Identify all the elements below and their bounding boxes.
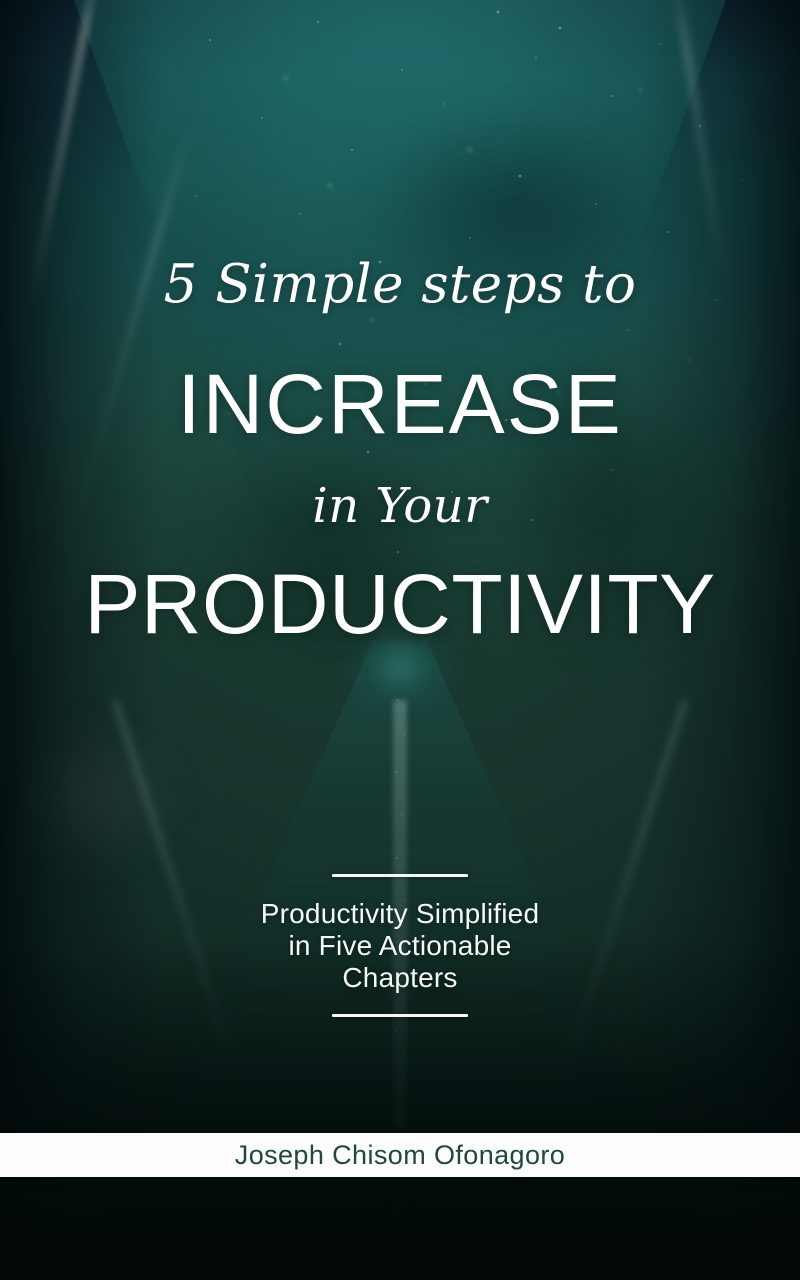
subtitle-line-2: in Five Actionable xyxy=(0,930,800,962)
author-band: Joseph Chisom Ofonagoro xyxy=(0,1133,800,1177)
cover-title-line-1: INCREASE xyxy=(0,362,800,446)
cover-text-content: 5 Simple steps to INCREASE in Your PRODU… xyxy=(0,0,800,1280)
cover-connector: in Your xyxy=(0,482,800,530)
subtitle-line-1: Productivity Simplified xyxy=(0,898,800,930)
author-name: Joseph Chisom Ofonagoro xyxy=(235,1140,565,1171)
book-cover: 5 Simple steps to INCREASE in Your PRODU… xyxy=(0,0,800,1280)
cover-kicker: 5 Simple steps to xyxy=(0,258,800,311)
cover-title-line-2: PRODUCTIVITY xyxy=(0,562,800,646)
subtitle-line-3: Chapters xyxy=(0,962,800,994)
subtitle-divider-top xyxy=(332,874,468,877)
cover-subtitle: Productivity Simplified in Five Actionab… xyxy=(0,898,800,994)
subtitle-divider-bottom xyxy=(332,1014,468,1017)
